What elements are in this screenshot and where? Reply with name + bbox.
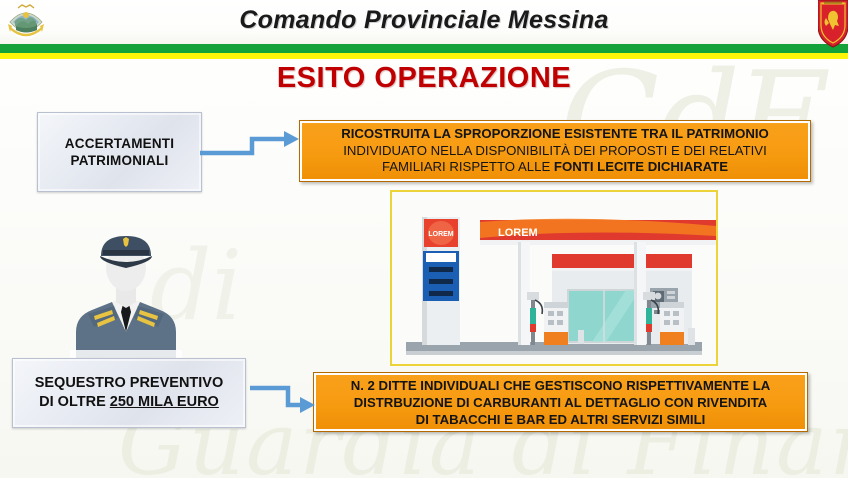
- gas-station-photo-frame: LOREM: [390, 190, 718, 366]
- accertamenti-line-1: ACCERTAMENTI: [65, 135, 174, 152]
- ricostruita-line-1: RICOSTRUITA LA SPROPORZIONE ESISTENTE TR…: [306, 126, 804, 143]
- ricostruita-line-3: FAMILIARI RISPETTO ALLE FONTI LECITE DIC…: [306, 159, 804, 176]
- ditte-line-1: N. 2 DITTE INDIVIDUALI CHE GESTISCONO RI…: [320, 377, 801, 394]
- accertamenti-line-2: PATRIMONIALI: [65, 152, 174, 169]
- italian-republic-coat-of-arms-icon: [4, 2, 48, 46]
- header-bar: Comando Provinciale Messina: [0, 0, 848, 44]
- arrow-accertamenti-to-ricostruita: [200, 128, 310, 164]
- ditte-line-3: DI TABACCHI E BAR ED ALTRI SERVIZI SIMIL…: [320, 411, 801, 428]
- svg-text:LOREM: LOREM: [498, 227, 538, 239]
- box-accertamenti-patrimoniali: ACCERTAMENTI PATRIMONIALI: [37, 112, 202, 192]
- guardia-di-finanza-shield-icon: [818, 0, 848, 48]
- page-title: Comando Provinciale Messina: [0, 6, 848, 35]
- arrow-sequestro-to-ditte: [232, 378, 332, 418]
- ricostruita-line-3-prefix: FAMILIARI RISPETTO ALLE: [382, 159, 554, 174]
- header-stripe-yellow: [0, 53, 848, 59]
- sequestro-line-2-prefix: DI OLTRE: [39, 394, 110, 410]
- ricostruita-line-2: INDIVIDUATO NELLA DISPONIBILITÀ DEI PROP…: [306, 143, 804, 160]
- sequestro-amount: 250 MILA EURO: [110, 394, 219, 410]
- svg-text:LOREM: LOREM: [428, 231, 453, 238]
- header-stripe-green: [0, 44, 848, 53]
- slide-root: GdF di Guardia di Finanza Comando Provin…: [0, 0, 848, 478]
- slide-heading: ESITO OPERAZIONE: [0, 62, 848, 95]
- box-ricostruita-sproporzione: RICOSTRUITA LA SPROPORZIONE ESISTENTE TR…: [299, 120, 811, 182]
- sequestro-line-2: DI OLTRE 250 MILA EURO: [35, 393, 224, 412]
- sequestro-line-1: SEQUESTRO PREVENTIVO: [35, 374, 224, 393]
- ricostruita-line-3-emphasis: FONTI LECITE DICHIARATE: [554, 159, 728, 174]
- box-ditte-individuali: N. 2 DITTE INDIVIDUALI CHE GESTISCONO RI…: [313, 372, 808, 432]
- guardia-di-finanza-officer-silhouette-icon: [70, 228, 182, 360]
- gas-station-illustration-icon: LOREM: [392, 192, 716, 364]
- box-sequestro-preventivo: SEQUESTRO PREVENTIVO DI OLTRE 250 MILA E…: [12, 358, 246, 428]
- ditte-line-2: DISTRBUZIONE DI CARBURANTI AL DETTAGLIO …: [320, 394, 801, 411]
